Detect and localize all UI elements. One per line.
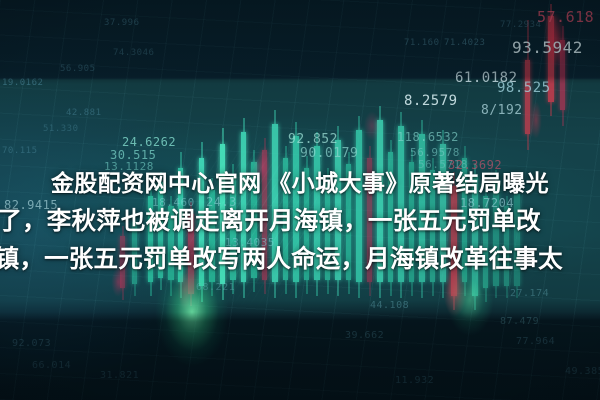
ticker-value: 118.6532: [397, 130, 459, 144]
ticker-value: 61.0182: [455, 70, 518, 86]
ticker-value: 57.618: [537, 8, 594, 26]
ticker-value: 98.525: [497, 80, 551, 96]
candlestick-wick: [527, 20, 528, 150]
ticker-value: 90.0179: [300, 146, 358, 161]
ticker-value: 39.662: [345, 330, 384, 341]
ticker-value: 87.479: [500, 316, 539, 327]
ticker-value: 8.2579: [404, 93, 458, 109]
candlestick: [548, 4, 554, 116]
headline-line-1: 金股配资网中心官网 《小城大事》原著结局曝光: [0, 164, 600, 202]
ticker-value: 77.2934: [500, 20, 541, 30]
ticker-value: 51.330: [43, 124, 79, 134]
ticker-value: 31.821: [100, 370, 139, 381]
ticker-value: 92.073: [12, 338, 51, 349]
candlestick-body: [525, 60, 530, 134]
ticker-value: 71.160: [404, 38, 440, 48]
ticker-value: 49.385: [565, 366, 600, 377]
candlestick-wick: [551, 4, 552, 116]
ticker-value: 37.996: [104, 18, 140, 28]
candlestick-wick: [562, 26, 563, 126]
candlestick: [560, 26, 565, 126]
headline-overlay: 金股配资网中心官网 《小城大事》原著结局曝光 得罪了，李秋萍也被调走离开月海镇，…: [0, 164, 600, 288]
ticker-value: 11.932: [395, 375, 434, 386]
headline-line-3: 海镇，一张五元罚单改写两人命运，月海镇改革往事太: [0, 241, 600, 279]
ticker-value: 19.0162: [2, 78, 43, 88]
candlestick: [525, 20, 530, 150]
ticker-value: 77.964: [516, 336, 555, 347]
ticker-value: 71.4023: [444, 38, 485, 48]
ticker-value: 24.6262: [122, 135, 176, 149]
ticker-value: 27.174: [510, 288, 549, 299]
ticker-value: 66.014: [32, 360, 71, 371]
ticker-value: 42.881: [66, 108, 102, 118]
ticker-value: 93.5942: [512, 38, 583, 57]
headline-line-2: 得罪了，李秋萍也被调走离开月海镇，一张五元罚单改: [0, 203, 600, 241]
ticker-value: 56.905: [60, 64, 96, 74]
ticker-value: 74.3046: [113, 48, 154, 58]
ticker-value: 92.852: [288, 132, 338, 147]
ticker-value: 8/192: [481, 103, 523, 118]
candlestick-body: [560, 40, 565, 110]
ticker-value: 44.108: [370, 300, 409, 311]
candlestick-body: [548, 16, 554, 102]
ticker-value: 70.115: [2, 146, 38, 156]
ticker-value: 30.515: [110, 148, 156, 162]
ticker-value: 56.9578: [410, 146, 460, 159]
banner-image: 93.594261.018298.5258.25798/19224.626230…: [0, 0, 600, 400]
